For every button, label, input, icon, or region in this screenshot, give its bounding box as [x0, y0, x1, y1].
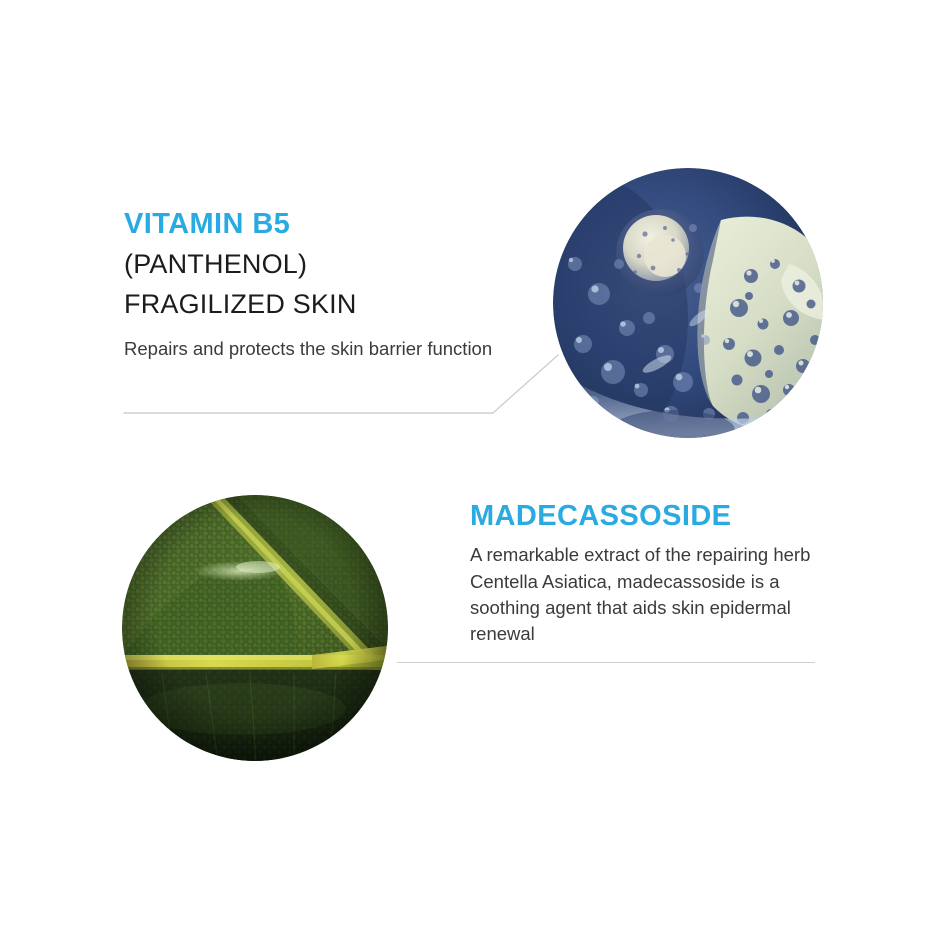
connector-line-vitamin-b5 [118, 345, 568, 425]
ingredient-subtitle-line-1-vitamin-b5: (PANTHENOL) [124, 250, 524, 280]
ingredient-infographic: VITAMIN B5 (PANTHENOL) FRAGILIZED SKIN R… [0, 0, 930, 930]
ingredient-description-madecassoside: A remarkable extract of the repairing he… [470, 542, 830, 647]
ingredient-subtitle-line-2-vitamin-b5: FRAGILIZED SKIN [124, 290, 524, 320]
ingredient-block-vitamin-b5: VITAMIN B5 (PANTHENOL) FRAGILIZED SKIN R… [124, 208, 524, 362]
blue-bubbles-photo [553, 168, 823, 438]
green-leaf-photo [122, 495, 388, 761]
ingredient-accent-title-vitamin-b5: VITAMIN B5 [124, 208, 524, 240]
ingredient-accent-title-madecassoside: MADECASSOSIDE [470, 500, 830, 532]
divider-line-madecassoside [397, 662, 815, 663]
ingredient-block-madecassoside: MADECASSOSIDE A remarkable extract of th… [470, 500, 830, 648]
